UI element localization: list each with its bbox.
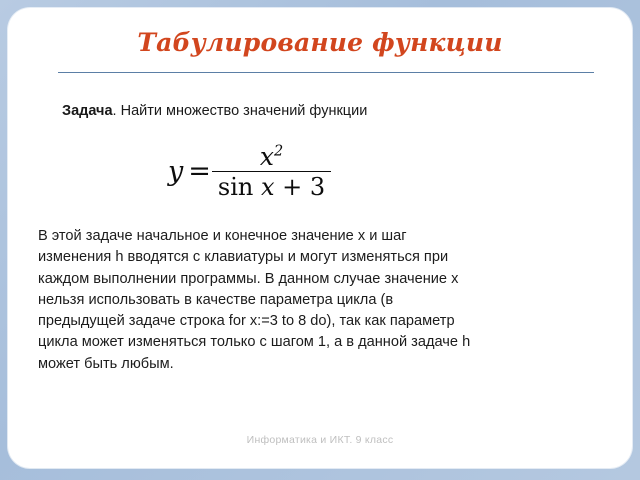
body-line: каждом выполнении программы. В данном сл… xyxy=(38,269,583,290)
math-formula: y = x2 sin x + 3 xyxy=(168,138,331,204)
formula-lhs: y xyxy=(168,158,185,185)
formula-denominator-operator: + xyxy=(282,173,302,201)
formula-denominator: sin x + 3 xyxy=(212,172,331,199)
formula-fraction: x2 sin x + 3 xyxy=(212,144,331,199)
body-line: предыдущей задаче строка for x:=3 to 8 d… xyxy=(38,311,583,332)
formula-equals-sign: = xyxy=(185,158,212,185)
formula-numerator-base: x xyxy=(260,142,274,171)
formula-denominator-function: sin xyxy=(218,173,253,201)
slide-content-area: Табулирование функции Задача. Найти множ… xyxy=(8,8,632,468)
formula-numerator-exponent: 2 xyxy=(274,143,283,159)
task-text: . Найти множество значений функции xyxy=(113,103,368,119)
body-line: нельзя использовать в качестве параметра… xyxy=(38,290,583,311)
task-statement: Задача. Найти множество значений функции xyxy=(62,102,367,121)
formula-numerator: x2 xyxy=(250,144,293,171)
body-line: изменения h вводятся с клавиатуры и могу… xyxy=(38,247,583,268)
page-title: Табулирование функции xyxy=(8,28,632,57)
formula-denominator-constant: 3 xyxy=(310,173,325,201)
slide-footer: Информатика и ИКТ. 9 класс xyxy=(8,434,632,446)
slide: Табулирование функции Задача. Найти множ… xyxy=(0,0,640,480)
body-paragraph: В этой задаче начальное и конечное значе… xyxy=(38,226,583,375)
body-line: может быть любым. xyxy=(38,354,583,375)
body-line: цикла может изменяться только с шагом 1,… xyxy=(38,332,583,353)
formula-denominator-variable: x xyxy=(261,173,275,201)
task-label: Задача xyxy=(62,103,113,119)
body-line: В этой задаче начальное и конечное значе… xyxy=(38,226,583,247)
title-divider xyxy=(58,72,594,73)
